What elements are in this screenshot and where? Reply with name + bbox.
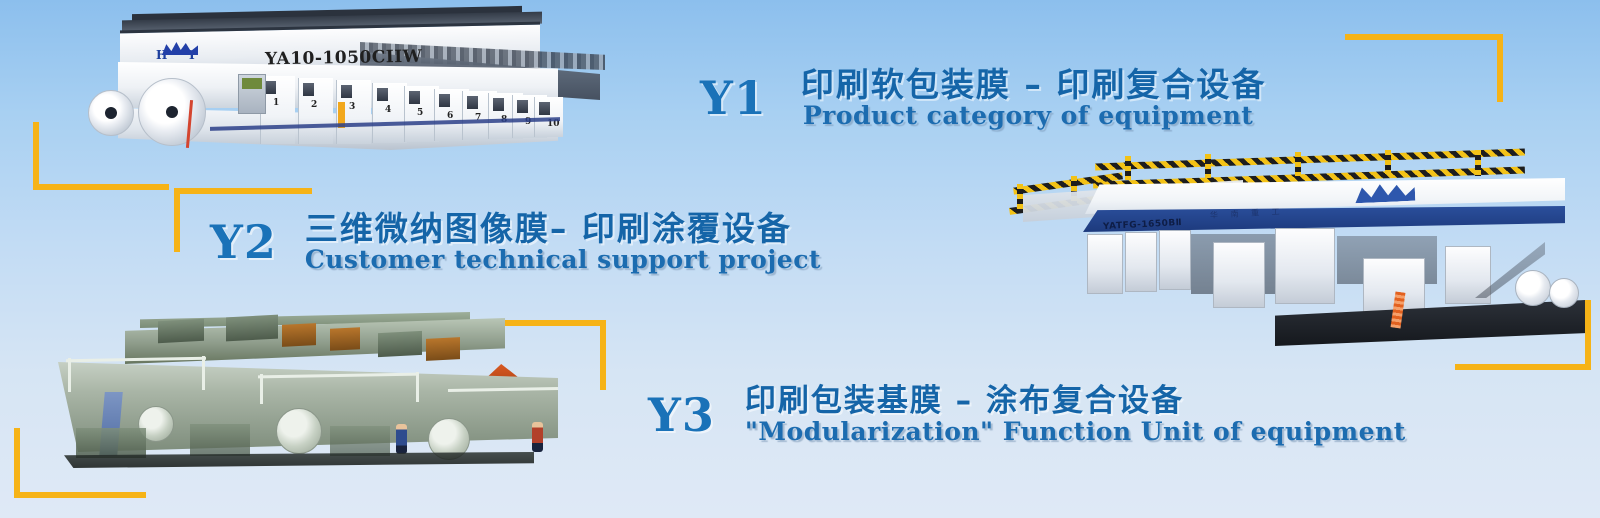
english-subtitle-y1: Product category of equipment: [803, 103, 1266, 129]
bracket-y1-left-vertical: [33, 122, 39, 190]
text-block-y3: 印刷包装基膜 – 涂布复合设备 "Modularization" Functio…: [745, 386, 1406, 444]
text-block-y2: 三维微纳图像膜– 印刷涂覆设备 Customer technical suppo…: [305, 212, 821, 272]
coater-operator-figure: [396, 424, 407, 454]
safety-rail-post: [1205, 154, 1211, 178]
laminator-frame: [1275, 228, 1335, 304]
bracket-y1-left-horizontal: [33, 184, 169, 190]
code-label-y3: Y3: [648, 392, 715, 438]
safety-rail-post: [1475, 150, 1481, 176]
text-row-y3: Y3 印刷包装基膜 – 涂布复合设备 "Modularization" Func…: [648, 386, 1406, 444]
press-model-label: YA10-1050CIIW: [265, 47, 423, 70]
press-unwind-roll-small: [88, 90, 134, 136]
coater-duct-block: [226, 315, 278, 342]
press-station-number: 1: [273, 98, 279, 108]
code-label-y2: Y2: [210, 219, 277, 265]
press-unwind-roll-large: [138, 78, 206, 146]
laminator-roll: [1515, 270, 1551, 306]
bracket-y3-bottom-vertical: [14, 428, 20, 498]
bracket-y3-top-vertical: [600, 320, 606, 390]
coater-motor-housing: [330, 327, 360, 351]
text-row-y1: Y1 印刷软包装膜 – 印刷复合设备 Product category of e…: [700, 68, 1266, 128]
bracket-y3-bottom-horizontal: [14, 492, 146, 498]
bracket-y2-right-horizontal: [1455, 364, 1591, 370]
coater-walkway-post: [416, 372, 419, 402]
bracket-y2-left-vertical: [174, 188, 180, 252]
machine-image-base-film-coater: [30, 312, 575, 490]
press-control-panel: [238, 74, 266, 114]
press-station-number: 3: [349, 102, 355, 112]
safety-rail-post: [1125, 156, 1131, 180]
coater-walkway-post: [68, 358, 71, 392]
coater-lower-frame: [190, 424, 250, 456]
bracket-y2-top-horizontal: [174, 188, 312, 194]
coater-duct-block: [158, 319, 204, 343]
bracket-y1-top-right-vertical: [1497, 34, 1503, 102]
coater-lower-frame: [76, 428, 146, 458]
laminator-frame: [1159, 230, 1191, 290]
coater-duct-block: [378, 331, 422, 357]
chinese-title-y2: 三维微纳图像膜– 印刷涂覆设备: [305, 212, 821, 246]
coater-motor-housing: [282, 323, 316, 347]
laminator-base-platform: [1275, 300, 1585, 346]
safety-rail-post: [1295, 152, 1301, 176]
press-station-number: 2: [311, 100, 317, 110]
press-station-number: 4: [385, 105, 391, 115]
laminator-roll: [1549, 278, 1579, 308]
chinese-title-y3: 印刷包装基膜 – 涂布复合设备: [745, 386, 1406, 418]
text-block-y1: 印刷软包装膜 – 印刷复合设备 Product category of equi…: [801, 68, 1266, 128]
safety-rail-post: [1017, 184, 1023, 212]
press-station: 2: [298, 78, 333, 144]
bracket-y2-right-vertical: [1585, 300, 1591, 370]
coater-operator-figure: [532, 422, 543, 452]
machine-image-printing-press: 1 2 3 4 5 6 7 8 9 10 H Y YA10-1050CIIW: [60, 4, 600, 170]
banner-canvas: 1 2 3 4 5 6 7 8 9 10 H Y YA10-1050CIIW: [0, 0, 1600, 518]
coater-lower-frame: [330, 426, 390, 456]
press-station-number: 5: [417, 108, 423, 118]
coater-walkway-post: [260, 374, 263, 404]
laminator-dryer-module: [1213, 242, 1265, 308]
coater-roll: [276, 408, 322, 454]
code-label-y1: Y1: [700, 75, 767, 121]
safety-rail-post: [1385, 150, 1391, 174]
coater-motor-housing: [426, 337, 460, 361]
press-station: 4: [372, 83, 407, 143]
text-row-y2: Y2 三维微纳图像膜– 印刷涂覆设备 Customer technical su…: [210, 212, 821, 272]
laminator-frame: [1125, 232, 1157, 292]
english-subtitle-y3: "Modularization" Function Unit of equipm…: [745, 419, 1406, 445]
press-brand-logo: H Y: [150, 48, 210, 70]
machine-image-coating-laminator: YATFG-1650BⅡ 华 南 重 工: [975, 150, 1585, 350]
english-subtitle-y2: Customer technical support project: [305, 247, 821, 273]
bracket-y1-top-right-horizontal: [1345, 34, 1503, 40]
chinese-title-y1: 印刷软包装膜 – 印刷复合设备: [801, 68, 1266, 102]
safety-rail-top: [1095, 148, 1525, 170]
laminator-frame: [1087, 234, 1123, 294]
coater-walkway-post: [202, 356, 205, 390]
